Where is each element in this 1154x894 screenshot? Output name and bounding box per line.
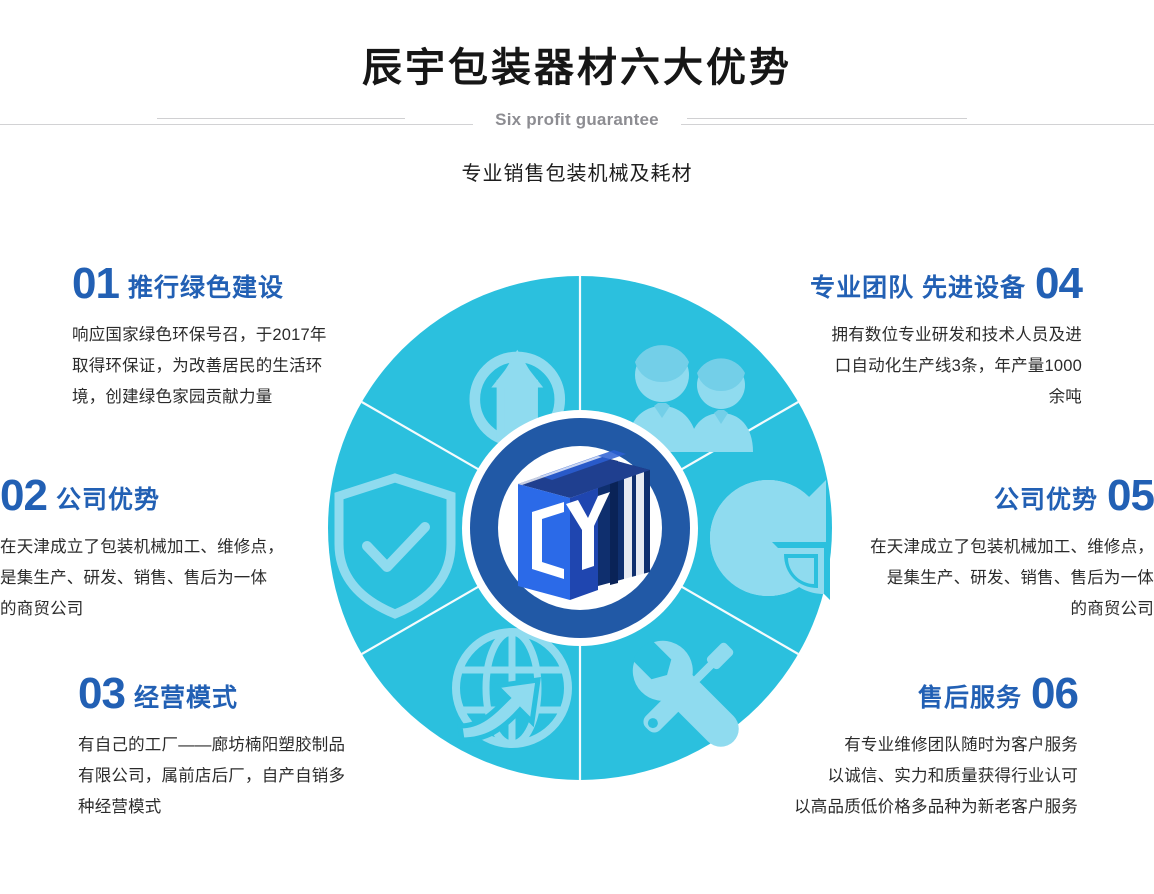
- advantage-block-06: 售后服务06 有专业维修团队随时为客户服务 以诚信、实力和质量获得行业认可 以高…: [768, 672, 1078, 823]
- advantage-body-line: 响应国家绿色环保号召，于2017年: [72, 320, 372, 351]
- advantage-number-01: 01: [72, 259, 119, 308]
- advantage-title-04: 专业团队 先进设备: [810, 274, 1026, 302]
- advantage-body-line: 有自己的工厂——廊坊楠阳塑胶制品: [78, 730, 388, 761]
- advantage-body-line: 有限公司，属前店后厂，自产自销多: [78, 761, 388, 792]
- advantage-heading-01: 01推行绿色建设: [72, 262, 372, 306]
- advantage-body-05: 在天津成立了包装机械加工、维修点， 是集生产、研发、销售、售后为一体 的商贸公司: [854, 532, 1154, 625]
- advantage-body-line: 在天津成立了包装机械加工、维修点，: [854, 532, 1154, 563]
- advantage-title-05: 公司优势: [994, 486, 1098, 514]
- advantage-number-04: 04: [1035, 259, 1082, 308]
- advantage-number-06: 06: [1031, 669, 1078, 718]
- advantage-body-01: 响应国家绿色环保号召，于2017年 取得环保证，为改善居民的生活环 境，创建绿色…: [72, 320, 372, 413]
- advantage-title-02: 公司优势: [56, 486, 160, 514]
- advantage-body-03: 有自己的工厂——廊坊楠阳塑胶制品 有限公司，属前店后厂，自产自销多 种经营模式: [78, 730, 388, 823]
- advantage-body-line: 口自动化生产线3条，年产量1000: [782, 351, 1082, 382]
- page-title: 辰宇包装器材六大优势: [0, 35, 1154, 93]
- advantage-heading-04: 专业团队 先进设备04: [782, 262, 1082, 306]
- advantage-number-03: 03: [78, 669, 125, 718]
- advantage-block-04: 专业团队 先进设备04 拥有数位专业研发和技术人员及进 口自动化生产线3条，年产…: [782, 262, 1082, 413]
- advantage-number-02: 02: [0, 471, 47, 520]
- advantage-block-03: 03经营模式 有自己的工厂——廊坊楠阳塑胶制品 有限公司，属前店后厂，自产自销多…: [78, 672, 388, 823]
- advantage-title-03: 经营模式: [134, 684, 238, 712]
- advantage-body-line: 的商贸公司: [854, 594, 1154, 625]
- advantage-body-line: 以诚信、实力和质量获得行业认可: [768, 761, 1078, 792]
- subtitle-english-wrap: Six profit guarantee: [0, 109, 1154, 131]
- advantage-heading-06: 售后服务06: [768, 672, 1078, 716]
- advantage-body-line: 种经营模式: [78, 792, 388, 823]
- advantage-body-line: 境，创建绿色家园贡献力量: [72, 382, 372, 413]
- page-header: 辰宇包装器材六大优势 Six profit guarantee 专业销售包装机械…: [0, 0, 1154, 210]
- advantage-title-06: 售后服务: [918, 684, 1022, 712]
- advantage-block-02: 02公司优势 在天津成立了包装机械加工、维修点， 是集生产、研发、销售、售后为一…: [0, 474, 300, 625]
- advantage-block-01: 01推行绿色建设 响应国家绿色环保号召，于2017年 取得环保证，为改善居民的生…: [72, 262, 372, 413]
- advantage-body-06: 有专业维修团队随时为客户服务 以诚信、实力和质量获得行业认可 以高品质低价格多品…: [768, 730, 1078, 823]
- advantage-body-line: 在天津成立了包装机械加工、维修点，: [0, 532, 300, 563]
- advantage-body-line: 余吨: [782, 382, 1082, 413]
- advantage-heading-05: 公司优势05: [854, 474, 1154, 518]
- advantage-heading-02: 02公司优势: [0, 474, 300, 518]
- advantage-body-line: 有专业维修团队随时为客户服务: [768, 730, 1078, 761]
- advantage-heading-03: 03经营模式: [78, 672, 388, 716]
- advantage-title-01: 推行绿色建设: [128, 274, 284, 302]
- advantage-block-05: 公司优势05 在天津成立了包装机械加工、维修点， 是集生产、研发、销售、售后为一…: [854, 474, 1154, 625]
- advantage-body-04: 拥有数位专业研发和技术人员及进 口自动化生产线3条，年产量1000 余吨: [782, 320, 1082, 413]
- advantage-body-line: 的商贸公司: [0, 594, 300, 625]
- advantage-body-02: 在天津成立了包装机械加工、维修点， 是集生产、研发、销售、售后为一体 的商贸公司: [0, 532, 300, 625]
- advantage-body-line: 以高品质低价格多品种为新老客户服务: [768, 792, 1078, 823]
- advantage-number-05: 05: [1107, 471, 1154, 520]
- subtitle-chinese: 专业销售包装机械及耗材: [0, 157, 1154, 186]
- advantage-body-line: 是集生产、研发、销售、售后为一体: [854, 563, 1154, 594]
- subtitle-english: Six profit guarantee: [473, 109, 681, 131]
- advantage-body-line: 拥有数位专业研发和技术人员及进: [782, 320, 1082, 351]
- advantage-body-line: 是集生产、研发、销售、售后为一体: [0, 563, 300, 594]
- advantage-body-line: 取得环保证，为改善居民的生活环: [72, 351, 372, 382]
